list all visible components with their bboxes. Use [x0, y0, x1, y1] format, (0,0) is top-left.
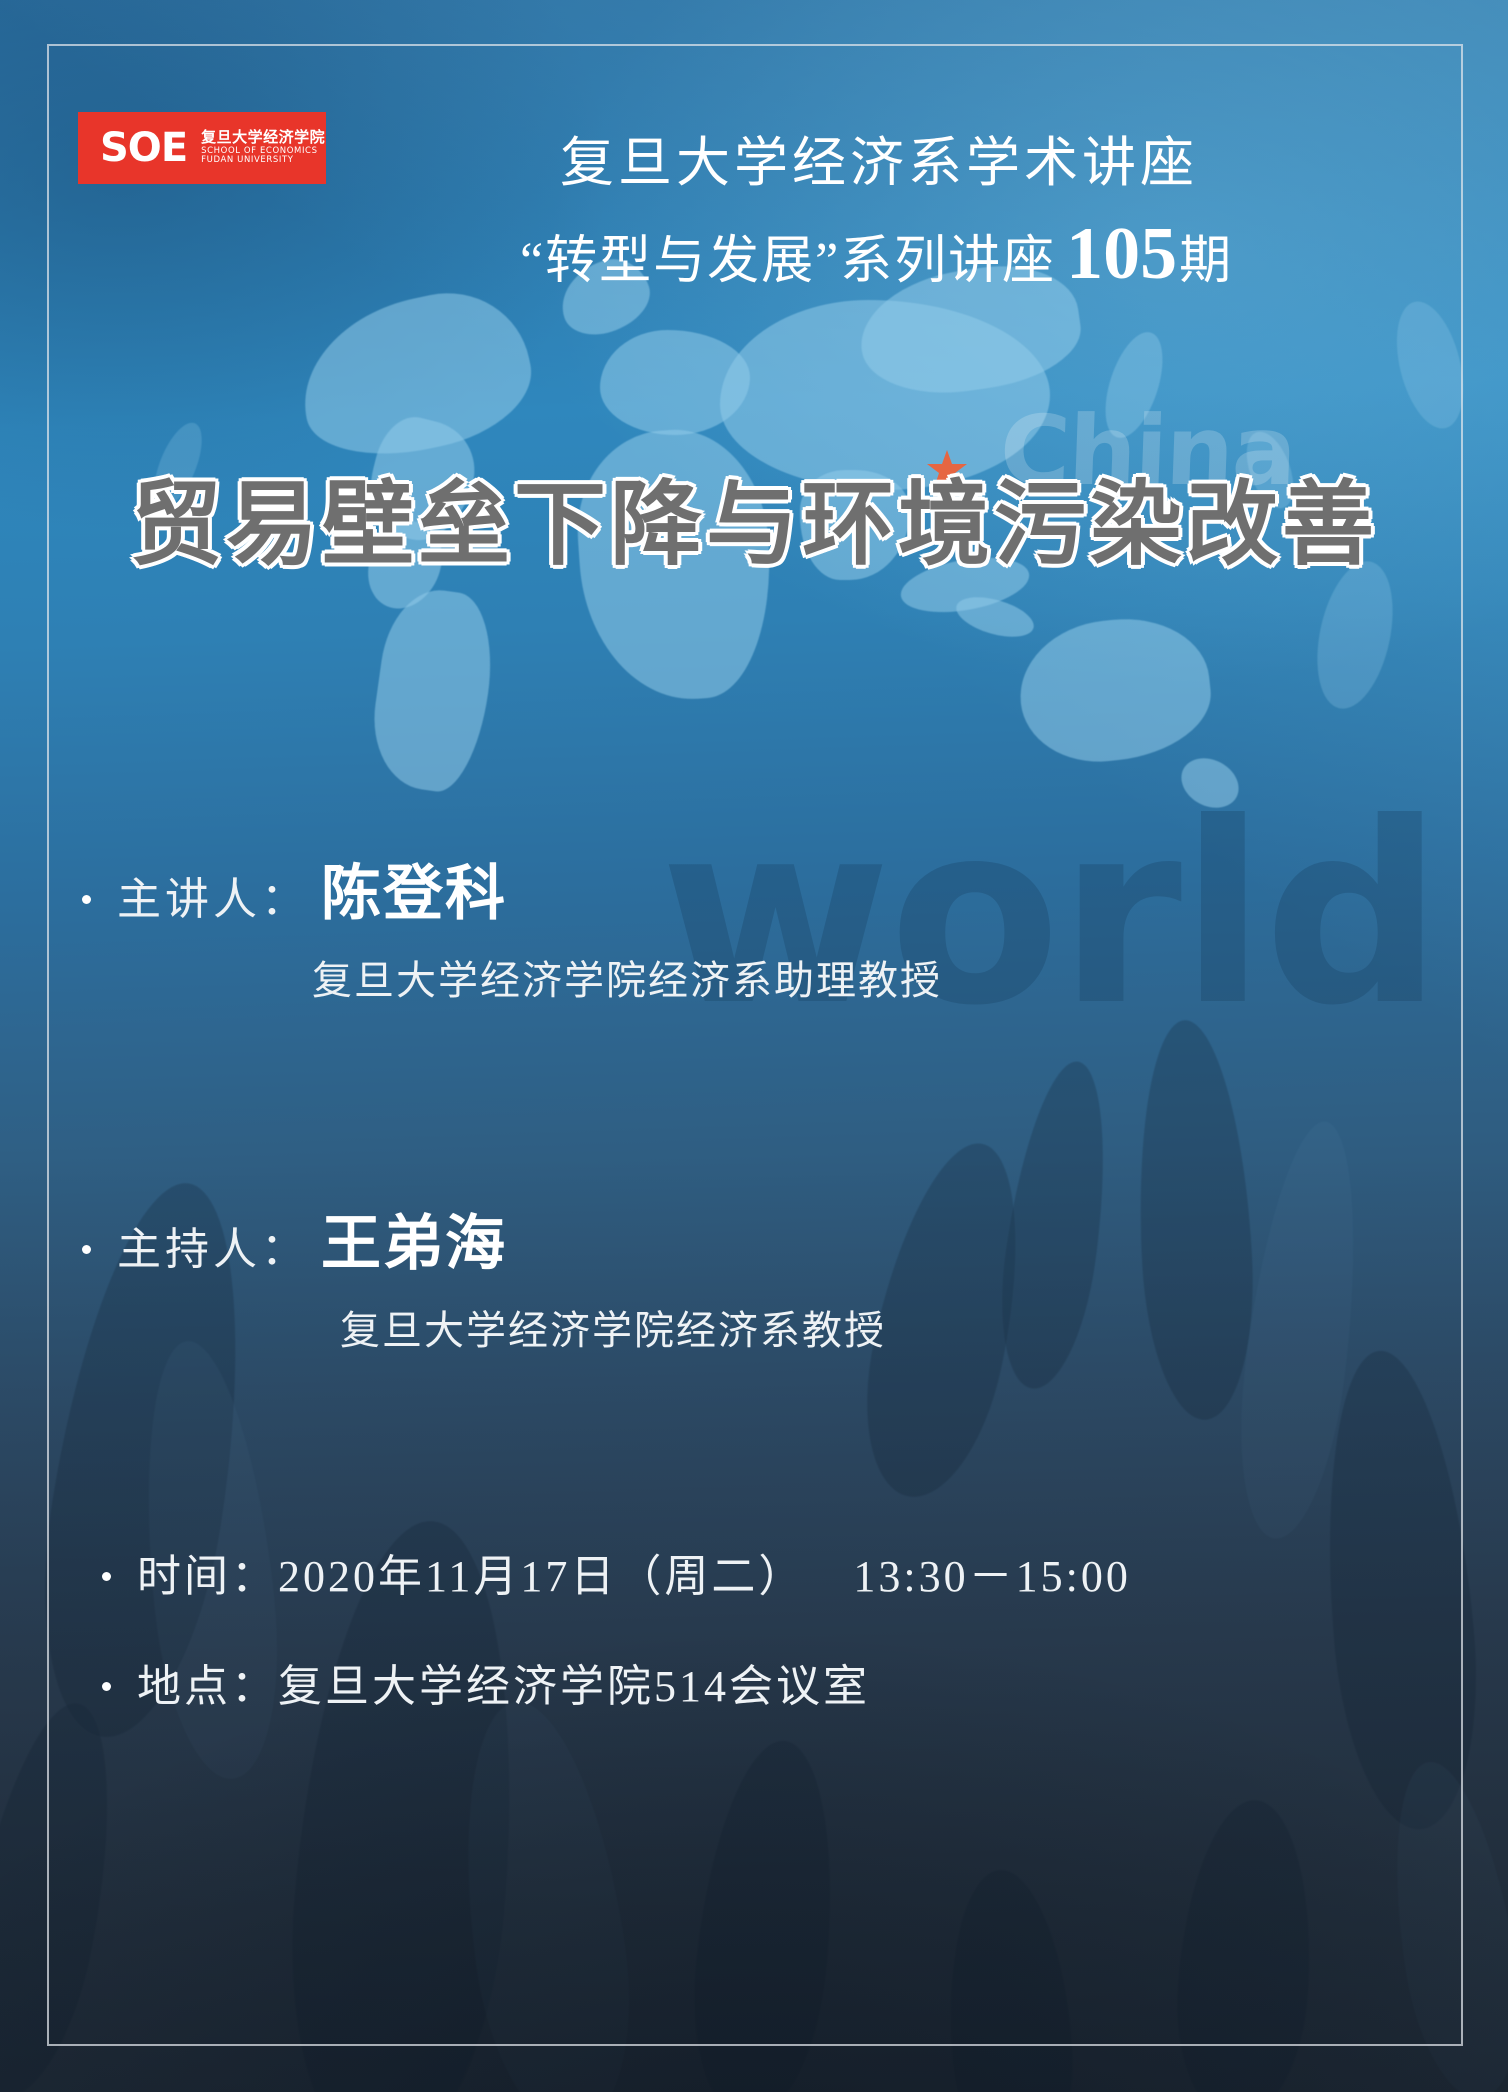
speaker-affiliation: 复旦大学经济学院经济系助理教授 [312, 948, 942, 1006]
logo-name-en-line2: FUDAN UNIVERSITY [201, 156, 325, 166]
venue-row: 地点： 复旦大学经济学院514会议室 [102, 1650, 870, 1714]
event-date: 2020年11月17日（周二） [278, 1540, 805, 1604]
time-label: 时间： [137, 1540, 278, 1604]
event-venue: 复旦大学经济学院514会议室 [278, 1650, 870, 1714]
soe-logo: SOE 复旦大学经济学院 SCHOOL OF ECONOMICS FUDAN U… [78, 112, 326, 184]
series-header-suffix: 期 [1179, 218, 1233, 293]
speaker-row: 主讲人： 陈登科 [82, 845, 507, 932]
series-header-prefix: “转型与发展”系列讲座 [520, 218, 1056, 293]
series-header-line2: “转型与发展”系列讲座 105 期 [520, 217, 1420, 293]
bullet-dot-icon [102, 1682, 111, 1691]
speaker-name: 陈登科 [321, 845, 507, 932]
venue-label: 地点： [137, 1650, 278, 1714]
time-row: 时间： 2020年11月17日（周二） 13:30－15:00 [102, 1540, 1131, 1604]
logo-mark-text: SOE [100, 128, 187, 168]
event-time-range: 13:30－15:00 [853, 1540, 1130, 1604]
lecture-poster: world China SOE 复旦大学经济学院 SCHOOL OF ECONO… [0, 0, 1508, 2092]
host-row: 主持人： 王弟海 [82, 1195, 507, 1282]
speaker-label: 主讲人： [117, 863, 309, 927]
bullet-dot-icon [82, 895, 91, 904]
host-label: 主持人： [117, 1213, 309, 1277]
series-header-line1: 复旦大学经济系学术讲座 [560, 118, 1400, 197]
logo-name-cn: 复旦大学经济学院 [201, 130, 325, 147]
lecture-title: 贸易壁垒下降与环境污染改善 [0, 450, 1508, 583]
host-affiliation: 复旦大学经济学院经济系教授 [340, 1298, 886, 1356]
poster-content: SOE 复旦大学经济学院 SCHOOL OF ECONOMICS FUDAN U… [0, 0, 1508, 2092]
bullet-dot-icon [82, 1245, 91, 1254]
bullet-dot-icon [102, 1572, 111, 1581]
series-issue-number: 105 [1066, 217, 1177, 291]
host-name: 王弟海 [321, 1195, 507, 1282]
